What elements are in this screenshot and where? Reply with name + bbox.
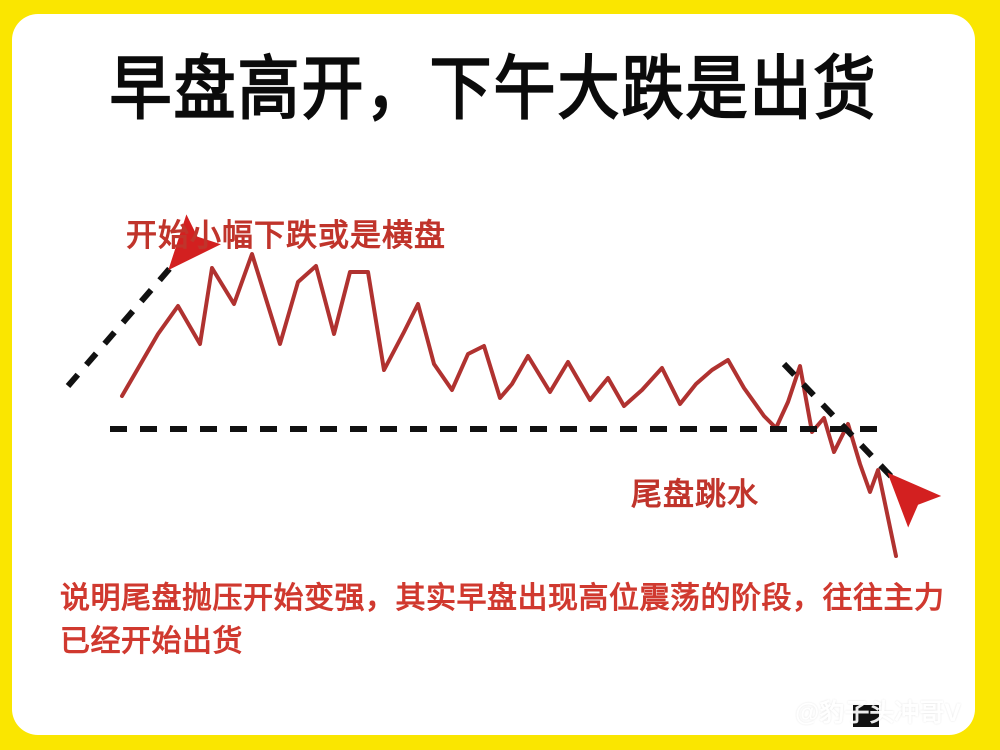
annotation-sideways-phase: 开始小幅下跌或是横盘 <box>126 210 446 255</box>
caption-text: 说明尾盘抛压开始变强，其实早盘出现高位震荡的阶段，往往主力已经开始出货 <box>60 578 950 663</box>
poster-container: 早盘高开，下午大跌是出货 开始小幅下跌或是横盘 尾盘跳水 说明尾盘抛压开始变强，… <box>0 0 1000 750</box>
weibo-icon <box>758 696 788 726</box>
white-card: 早盘高开，下午大跌是出货 开始小幅下跌或是横盘 尾盘跳水 说明尾盘抛压开始变强，… <box>12 14 975 735</box>
annotation-tail-dive: 尾盘跳水 <box>631 469 759 514</box>
watermark: @豹子头冲哥V <box>758 693 961 729</box>
watermark-handle: @豹子头冲哥V <box>795 693 961 729</box>
price-line <box>122 254 896 556</box>
